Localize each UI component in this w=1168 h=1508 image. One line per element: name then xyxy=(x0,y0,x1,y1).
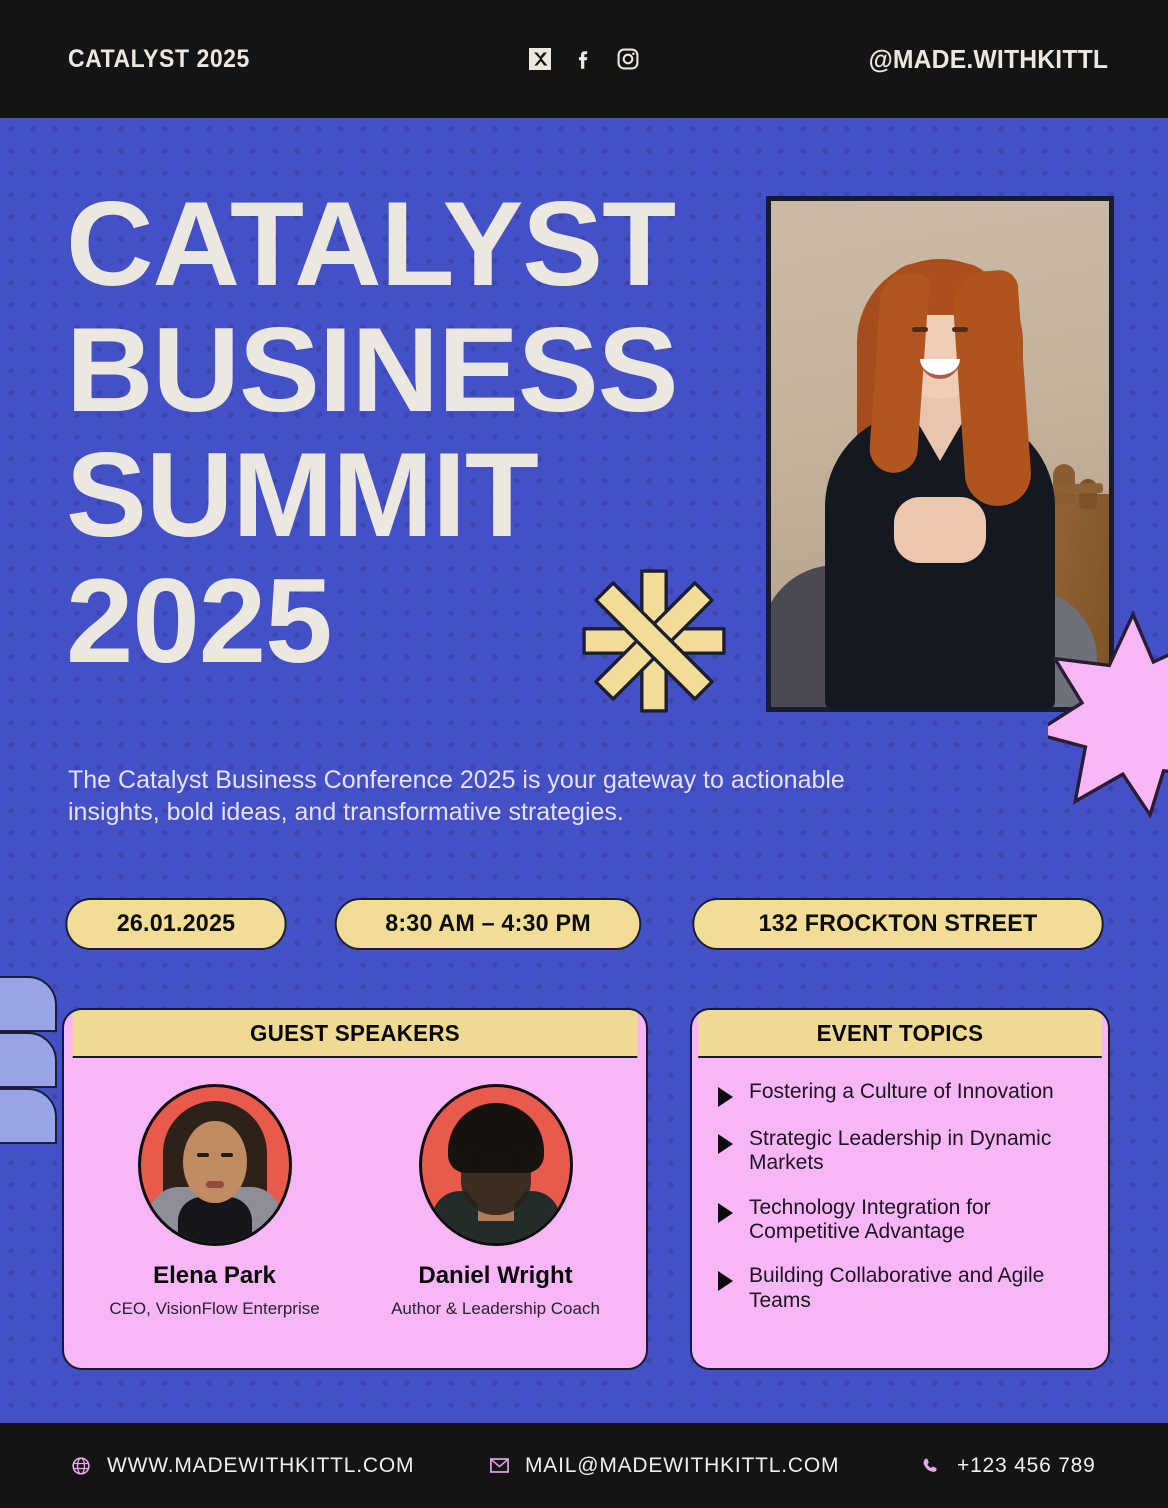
pink-starburst-shape xyxy=(1048,608,1168,818)
date-badge: 26.01.2025 xyxy=(65,898,286,950)
topic-label: Building Collaborative and Agile Teams xyxy=(749,1264,1092,1313)
footer-phone[interactable]: +123 456 789 xyxy=(920,1454,1096,1478)
globe-icon xyxy=(70,1455,92,1477)
footer-email-label: MAIL@MADEWITHKITTL.COM xyxy=(525,1454,839,1478)
guest-speakers-heading: GUEST SPEAKERS xyxy=(73,1010,638,1058)
footer-bar: WWW.MADEWITHKITTL.COM MAIL@MADEWITHKITTL… xyxy=(0,1423,1168,1508)
arch-decoration-shape xyxy=(0,975,68,1145)
avatar xyxy=(419,1084,573,1246)
topic-label: Technology Integration for Competitive A… xyxy=(749,1196,1092,1245)
topic-label: Strategic Leadership in Dynamic Markets xyxy=(749,1127,1092,1176)
title-line-3: SUMMIT xyxy=(66,437,763,555)
triangle-bullet-icon xyxy=(718,1134,733,1154)
footer-website[interactable]: WWW.MADEWITHKITTL.COM xyxy=(70,1454,414,1478)
topic-label: Fostering a Culture of Innovation xyxy=(749,1080,1054,1104)
event-topics-heading: EVENT TOPICS xyxy=(698,1010,1102,1058)
triangle-bullet-icon xyxy=(718,1203,733,1223)
list-item: Fostering a Culture of Innovation xyxy=(718,1080,1092,1107)
social-links xyxy=(527,46,641,72)
event-details-row: 26.01.2025 8:30 AM – 4:30 PM 132 FROCKTO… xyxy=(62,898,1110,950)
speaker-item: Elena Park CEO, VisionFlow Enterprise xyxy=(74,1084,355,1356)
time-badge: 8:30 AM – 4:30 PM xyxy=(335,898,642,950)
list-item: Building Collaborative and Agile Teams xyxy=(718,1264,1092,1313)
title-line-2: BUSINESS xyxy=(66,312,763,430)
speaker-role: CEO, VisionFlow Enterprise xyxy=(109,1299,319,1319)
speaker-role: Author & Leadership Coach xyxy=(391,1299,600,1319)
footer-email[interactable]: MAIL@MADEWITHKITTL.COM xyxy=(488,1454,839,1478)
footer-phone-label: +123 456 789 xyxy=(957,1454,1096,1478)
poster-canvas: CATALYST 2025 @MADE.WI xyxy=(0,0,1168,1508)
event-description: The Catalyst Business Conference 2025 is… xyxy=(68,764,908,828)
title-line-1: CATALYST xyxy=(66,186,763,304)
asterisk-star-icon xyxy=(578,565,730,717)
triangle-bullet-icon xyxy=(718,1271,733,1291)
avatar xyxy=(138,1084,292,1246)
triangle-bullet-icon xyxy=(718,1087,733,1107)
phone-icon xyxy=(920,1455,942,1477)
envelope-icon xyxy=(488,1455,510,1477)
speaker-name: Daniel Wright xyxy=(418,1262,572,1290)
social-handle: @MADE.WITHKITTL xyxy=(868,44,1108,75)
x-twitter-icon[interactable] xyxy=(527,46,553,72)
facebook-icon[interactable] xyxy=(571,46,597,72)
speaker-name: Elena Park xyxy=(153,1262,276,1290)
footer-website-label: WWW.MADEWITHKITTL.COM xyxy=(107,1454,414,1478)
list-item: Strategic Leadership in Dynamic Markets xyxy=(718,1127,1092,1176)
top-bar: CATALYST 2025 @MADE.WI xyxy=(0,0,1168,118)
instagram-icon[interactable] xyxy=(615,46,641,72)
guest-speakers-card: GUEST SPEAKERS Elena Park CEO, VisionFlo… xyxy=(62,1008,648,1370)
speaker-item: Daniel Wright Author & Leadership Coach xyxy=(355,1084,636,1356)
event-topics-card: EVENT TOPICS Fostering a Culture of Inno… xyxy=(690,1008,1110,1370)
brand-label: CATALYST 2025 xyxy=(68,45,250,74)
address-badge: 132 FROCKTON STREET xyxy=(692,898,1103,950)
list-item: Technology Integration for Competitive A… xyxy=(718,1196,1092,1245)
